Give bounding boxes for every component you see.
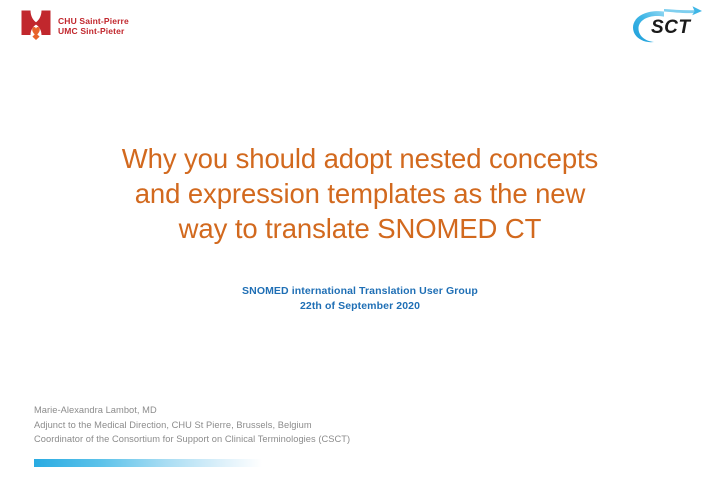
presenter-details: Marie-Alexandra Lambot, MD Adjunct to th…	[34, 403, 350, 447]
accent-gradient-bar	[34, 459, 262, 467]
sct-swoosh-arrow-icon: SCT	[624, 4, 708, 52]
slide-title: Why you should adopt nested concepts and…	[0, 141, 720, 246]
chu-logo-wordmark: CHU Saint-Pierre UMC Sint-Pieter	[58, 16, 129, 36]
presenter-role: Coordinator of the Consortium for Suppor…	[34, 432, 350, 447]
presentation-title-slide: CHU Saint-Pierre UMC Sint-Pieter SCT	[0, 0, 720, 498]
subtitle-event-name: SNOMED international Translation User Gr…	[0, 284, 720, 299]
title-line-2: and expression templates as the new	[0, 176, 720, 211]
presenter-affiliation: Adjunct to the Medical Direction, CHU St…	[34, 418, 350, 433]
subtitle-event-date: 22th of September 2020	[0, 299, 720, 314]
chu-hospital-logo-icon	[20, 9, 52, 43]
svg-text:SCT: SCT	[651, 17, 691, 38]
title-line-3: way to translate SNOMED CT	[0, 211, 720, 246]
title-line-1: Why you should adopt nested concepts	[0, 141, 720, 176]
chu-logo-line-nl: UMC Sint-Pieter	[58, 26, 129, 36]
presenter-name: Marie-Alexandra Lambot, MD	[34, 403, 350, 418]
chu-logo-line-fr: CHU Saint-Pierre	[58, 16, 129, 26]
sct-logo: SCT	[624, 4, 708, 52]
slide-subtitle: SNOMED international Translation User Gr…	[0, 284, 720, 314]
chu-saint-pierre-logo: CHU Saint-Pierre UMC Sint-Pieter	[20, 9, 129, 43]
